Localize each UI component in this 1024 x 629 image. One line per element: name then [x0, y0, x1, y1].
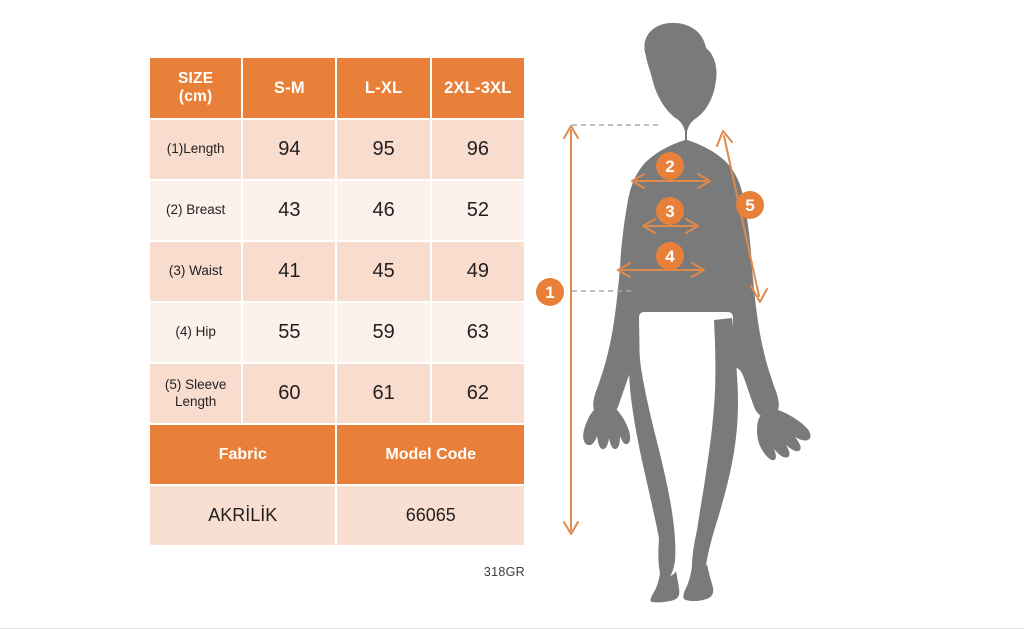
footer-header-fabric: Fabric: [149, 424, 336, 485]
cell-hip-l-xl: 59: [336, 302, 430, 363]
cell-sleeve-s-m: 60: [242, 363, 336, 424]
badge-5: 5: [736, 191, 764, 219]
row-label-length: (1)Length: [149, 119, 242, 180]
table-row: (2) Breast 43 46 52: [149, 180, 525, 241]
cell-hip-2xl-3xl: 63: [431, 302, 525, 363]
footer-value-model-code: 66065: [336, 485, 525, 546]
badge-3-label: 3: [665, 202, 674, 221]
header-col-s-m: S-M: [242, 57, 336, 119]
table-footer-header-row: Fabric Model Code: [149, 424, 525, 485]
cell-breast-l-xl: 46: [336, 180, 430, 241]
cell-length-s-m: 94: [242, 119, 336, 180]
size-chart-table: SIZE (cm) S-M L-XL 2XL-3XL (1)Length 94 …: [149, 57, 525, 546]
row-label-breast: (2) Breast: [149, 180, 242, 241]
table-header-row: SIZE (cm) S-M L-XL 2XL-3XL: [149, 57, 525, 119]
table-row: (1)Length 94 95 96: [149, 119, 525, 180]
cell-hip-s-m: 55: [242, 302, 336, 363]
size-chart-page: SIZE (cm) S-M L-XL 2XL-3XL (1)Length 94 …: [0, 0, 1024, 629]
badge-4: 4: [656, 242, 684, 270]
table-row: (4) Hip 55 59 63: [149, 302, 525, 363]
row-label-sleeve-line2: Length: [150, 394, 241, 411]
table-body: (1)Length 94 95 96 (2) Breast 43 46 52 (…: [149, 119, 525, 546]
table-footer-value-row: AKRİLİK 66065: [149, 485, 525, 546]
row-label-hip: (4) Hip: [149, 302, 242, 363]
badge-5-label: 5: [745, 196, 754, 215]
row-label-waist: (3) Waist: [149, 241, 242, 302]
badge-4-label: 4: [665, 247, 675, 266]
cell-waist-s-m: 41: [242, 241, 336, 302]
badge-1: 1: [536, 278, 564, 306]
row-label-sleeve-length: (5) Sleeve Length: [149, 363, 242, 424]
header-col-l-xl: L-XL: [336, 57, 430, 119]
table-head: SIZE (cm) S-M L-XL 2XL-3XL: [149, 57, 525, 119]
weight-note: 318GR: [430, 565, 525, 579]
cell-breast-2xl-3xl: 52: [431, 180, 525, 241]
footer-header-model-code: Model Code: [336, 424, 525, 485]
table-row: (3) Waist 41 45 49: [149, 241, 525, 302]
footer-value-fabric: AKRİLİK: [149, 485, 336, 546]
cell-sleeve-2xl-3xl: 62: [431, 363, 525, 424]
cell-waist-2xl-3xl: 49: [431, 241, 525, 302]
cell-length-l-xl: 95: [336, 119, 430, 180]
measure-arrow-length: [564, 126, 578, 534]
cell-sleeve-l-xl: 61: [336, 363, 430, 424]
badge-2-label: 2: [665, 157, 674, 176]
cell-waist-l-xl: 45: [336, 241, 430, 302]
header-size-cm: SIZE (cm): [149, 57, 242, 119]
header-size-line1: SIZE: [150, 70, 241, 88]
badge-2: 2: [656, 152, 684, 180]
row-label-sleeve-line1: (5) Sleeve: [150, 377, 241, 394]
badge-1-label: 1: [545, 283, 554, 302]
female-silhouette-icon: [583, 23, 810, 602]
cell-length-2xl-3xl: 96: [431, 119, 525, 180]
measurement-figure-panel: 1 2 3 4 5: [528, 18, 828, 603]
header-size-line2: (cm): [150, 88, 241, 106]
table-row: (5) Sleeve Length 60 61 62: [149, 363, 525, 424]
header-col-2xl-3xl: 2XL-3XL: [431, 57, 525, 119]
badge-3: 3: [656, 197, 684, 225]
cell-breast-s-m: 43: [242, 180, 336, 241]
